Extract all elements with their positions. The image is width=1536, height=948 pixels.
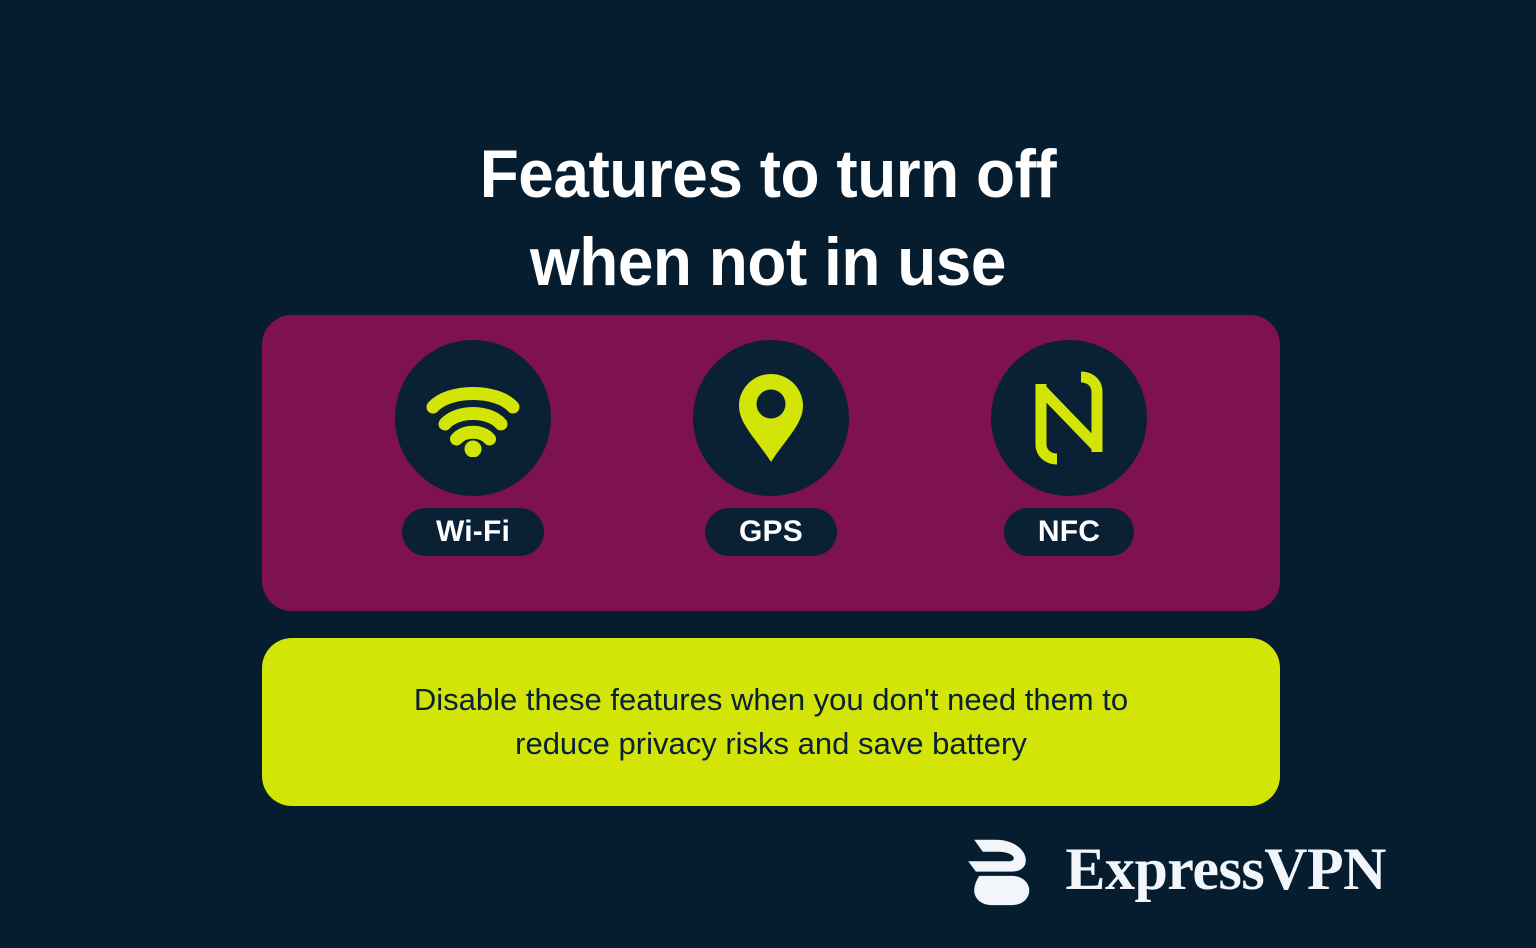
- feature-label-gps[interactable]: GPS: [705, 508, 837, 556]
- wifi-icon-circle: [395, 340, 551, 496]
- expressvpn-e-logo-icon: [957, 826, 1043, 912]
- caption-panel: Disable these features when you don't ne…: [262, 638, 1280, 806]
- page-title-line-2: when not in use: [46, 218, 1490, 306]
- caption-text: Disable these features when you don't ne…: [414, 678, 1128, 766]
- feature-item-gps[interactable]: GPS: [693, 340, 849, 556]
- gps-icon-circle: [693, 340, 849, 496]
- nfc-icon-circle: [991, 340, 1147, 496]
- caption-line-1: Disable these features when you don't ne…: [414, 678, 1128, 722]
- brand-logo: ExpressVPN: [957, 826, 1386, 912]
- nfc-icon: [1030, 370, 1108, 466]
- feature-item-nfc[interactable]: NFC: [991, 340, 1147, 556]
- features-panel: Wi-Fi GPS: [262, 315, 1280, 611]
- feature-item-wifi[interactable]: Wi-Fi: [395, 340, 551, 556]
- location-pin-icon: [733, 370, 809, 466]
- feature-label-wifi[interactable]: Wi-Fi: [402, 508, 544, 556]
- infographic-canvas: Features to turn off when not in use: [0, 0, 1536, 948]
- feature-label-nfc[interactable]: NFC: [1004, 508, 1134, 556]
- page-title: Features to turn off when not in use: [46, 130, 1490, 306]
- brand-name: ExpressVPN: [1065, 839, 1386, 899]
- features-list: Wi-Fi GPS: [262, 315, 1280, 611]
- caption-line-2: reduce privacy risks and save battery: [414, 722, 1128, 766]
- page-title-line-1: Features to turn off: [46, 130, 1490, 218]
- wifi-icon: [425, 379, 521, 457]
